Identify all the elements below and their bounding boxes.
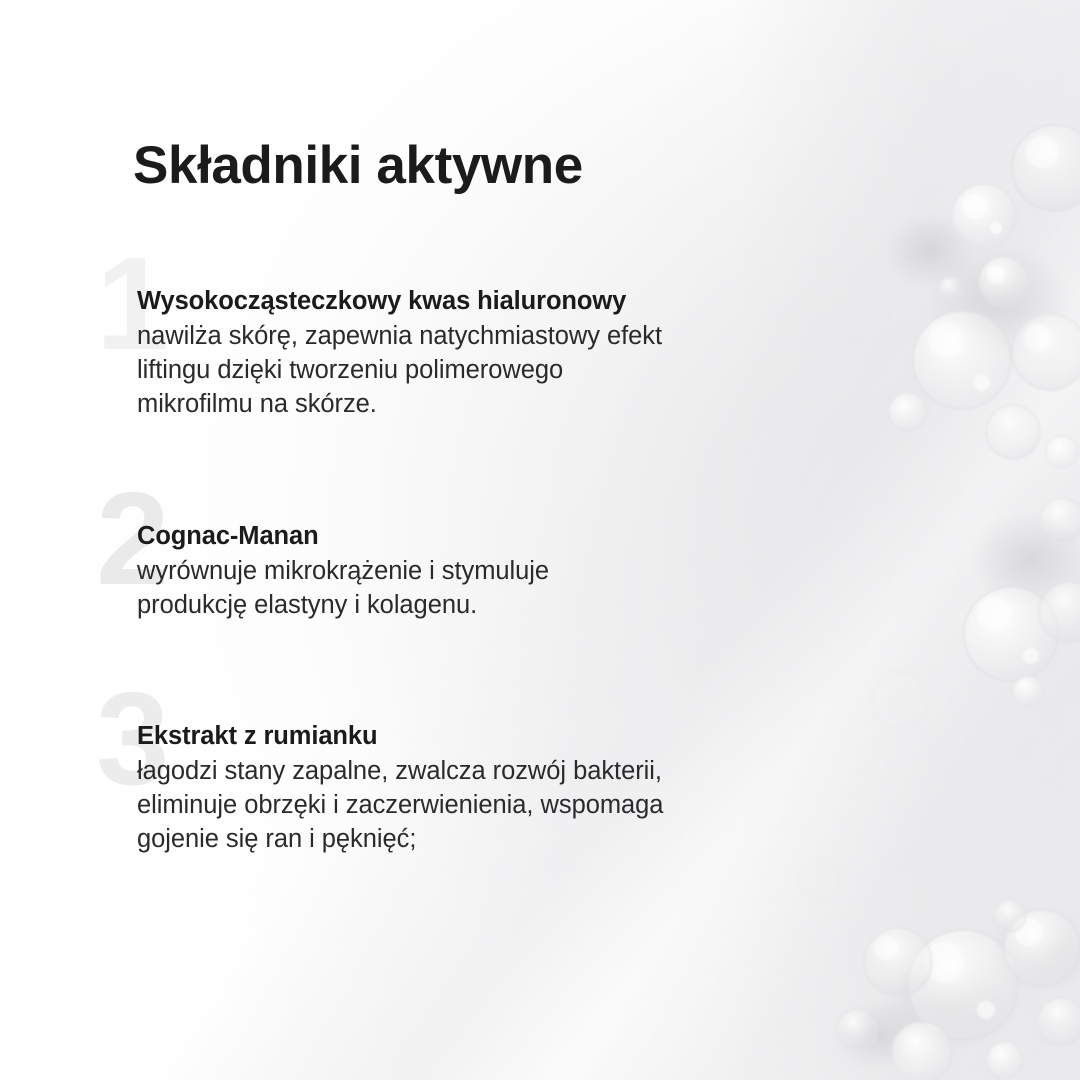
ingredient-text-block: Ekstrakt z rumianku łagodzi stany zapaln… [137, 720, 837, 856]
description-line: eliminuje obrzęki i zaczerwienienia, wsp… [137, 788, 837, 822]
description-line: łagodzi stany zapalne, zwalcza rozwój ba… [137, 754, 837, 788]
ingredient-description: nawilża skórę, zapewnia natychmiastowy e… [137, 319, 837, 421]
description-line: liftingu dzięki tworzeniu polimerowego [137, 353, 837, 387]
ingredient-text-block: Cognac-Manan wyrównuje mikrokrążenie i s… [137, 520, 837, 622]
ingredient-text-block: Wysokocząsteczkowy kwas hialuronowy nawi… [137, 285, 837, 421]
description-line: mikrofilmu na skórze. [137, 387, 837, 421]
ingredient-name: Wysokocząsteczkowy kwas hialuronowy [137, 285, 837, 318]
ingredient-name: Cognac-Manan [137, 520, 837, 553]
description-line: nawilża skórę, zapewnia natychmiastowy e… [137, 319, 837, 353]
ingredient-description: wyrównuje mikrokrążenie i stymuluje prod… [137, 554, 837, 622]
description-line: produkcję elastyny i kolagenu. [137, 588, 837, 622]
ingredient-description: łagodzi stany zapalne, zwalcza rozwój ba… [137, 754, 837, 856]
slide-content: Składniki aktywne 1 Wysokocząsteczkowy k… [0, 0, 1080, 1080]
page-title: Składniki aktywne [133, 136, 583, 195]
description-line: wyrównuje mikrokrążenie i stymuluje [137, 554, 837, 588]
ingredient-name: Ekstrakt z rumianku [137, 720, 837, 753]
description-line: gojenie się ran i pęknięć; [137, 822, 837, 856]
slide-canvas: Składniki aktywne 1 Wysokocząsteczkowy k… [0, 0, 1080, 1080]
